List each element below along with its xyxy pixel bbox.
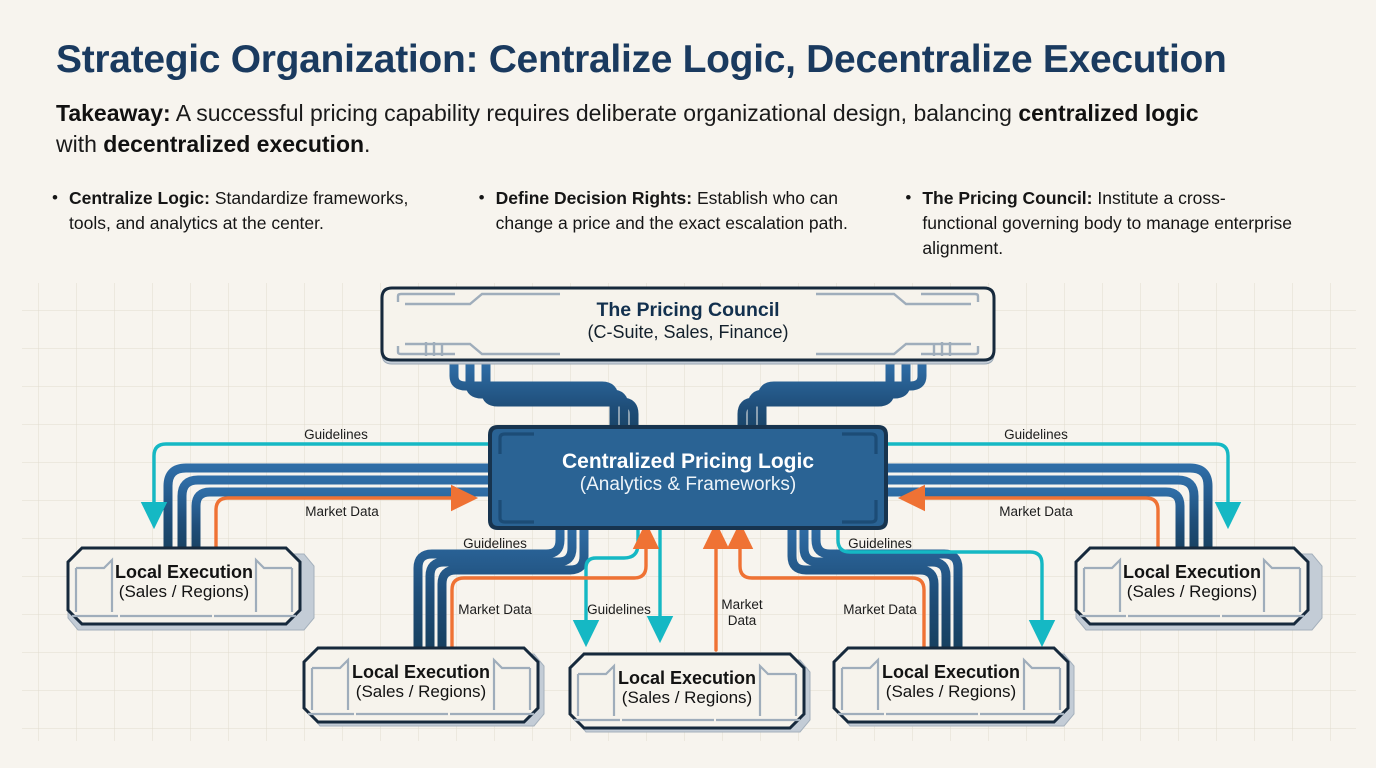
bullet-text: Centralize Logic: Standardize frameworks… (69, 186, 447, 236)
takeaway-part1: A successful pricing capability requires… (171, 100, 1019, 126)
bullet-list: • Centralize Logic: Standardize framewor… (52, 186, 1332, 261)
node-local-execution[interactable] (834, 648, 1074, 726)
bullet-text: The Pricing Council: Institute a cross-f… (922, 186, 1300, 261)
bullet-column-2: • Define Decision Rights: Establish who … (479, 186, 906, 261)
takeaway-text: Takeaway: A successful pricing capabilit… (56, 98, 1236, 159)
node-local-execution[interactable] (68, 548, 314, 630)
bullet-item: • The Pricing Council: Institute a cross… (905, 186, 1300, 261)
bullet-marker-icon: • (479, 186, 496, 236)
node-local-execution[interactable] (304, 648, 544, 726)
node-local-execution[interactable] (1076, 548, 1322, 630)
bullet-term: The Pricing Council: (922, 188, 1092, 208)
bullet-item: • Define Decision Rights: Establish who … (479, 186, 874, 236)
takeaway-bold2: decentralized execution (103, 131, 364, 157)
bullet-text: Define Decision Rights: Establish who ca… (496, 186, 874, 236)
bullet-term: Define Decision Rights: (496, 188, 692, 208)
page-title: Strategic Organization: Centralize Logic… (56, 38, 1227, 82)
org-diagram: The Pricing Council (C-Suite, Sales, Fin… (0, 272, 1376, 768)
slide-root: Strategic Organization: Centralize Logic… (0, 0, 1376, 768)
bullet-marker-icon: • (52, 186, 69, 236)
takeaway-bold1: centralized logic (1018, 100, 1198, 126)
bullet-term: Centralize Logic: (69, 188, 210, 208)
takeaway-lead: Takeaway: (56, 100, 171, 126)
bullet-column-1: • Centralize Logic: Standardize framewor… (52, 186, 479, 261)
bullet-marker-icon: • (905, 186, 922, 261)
node-pricing-council[interactable] (382, 288, 994, 364)
takeaway-part2: with (56, 131, 103, 157)
bullet-column-3: • The Pricing Council: Institute a cross… (905, 186, 1332, 261)
bullet-item: • Centralize Logic: Standardize framewor… (52, 186, 447, 236)
node-centralized-pricing-logic[interactable] (490, 427, 886, 528)
takeaway-end: . (364, 131, 370, 157)
node-local-execution[interactable] (570, 654, 810, 732)
